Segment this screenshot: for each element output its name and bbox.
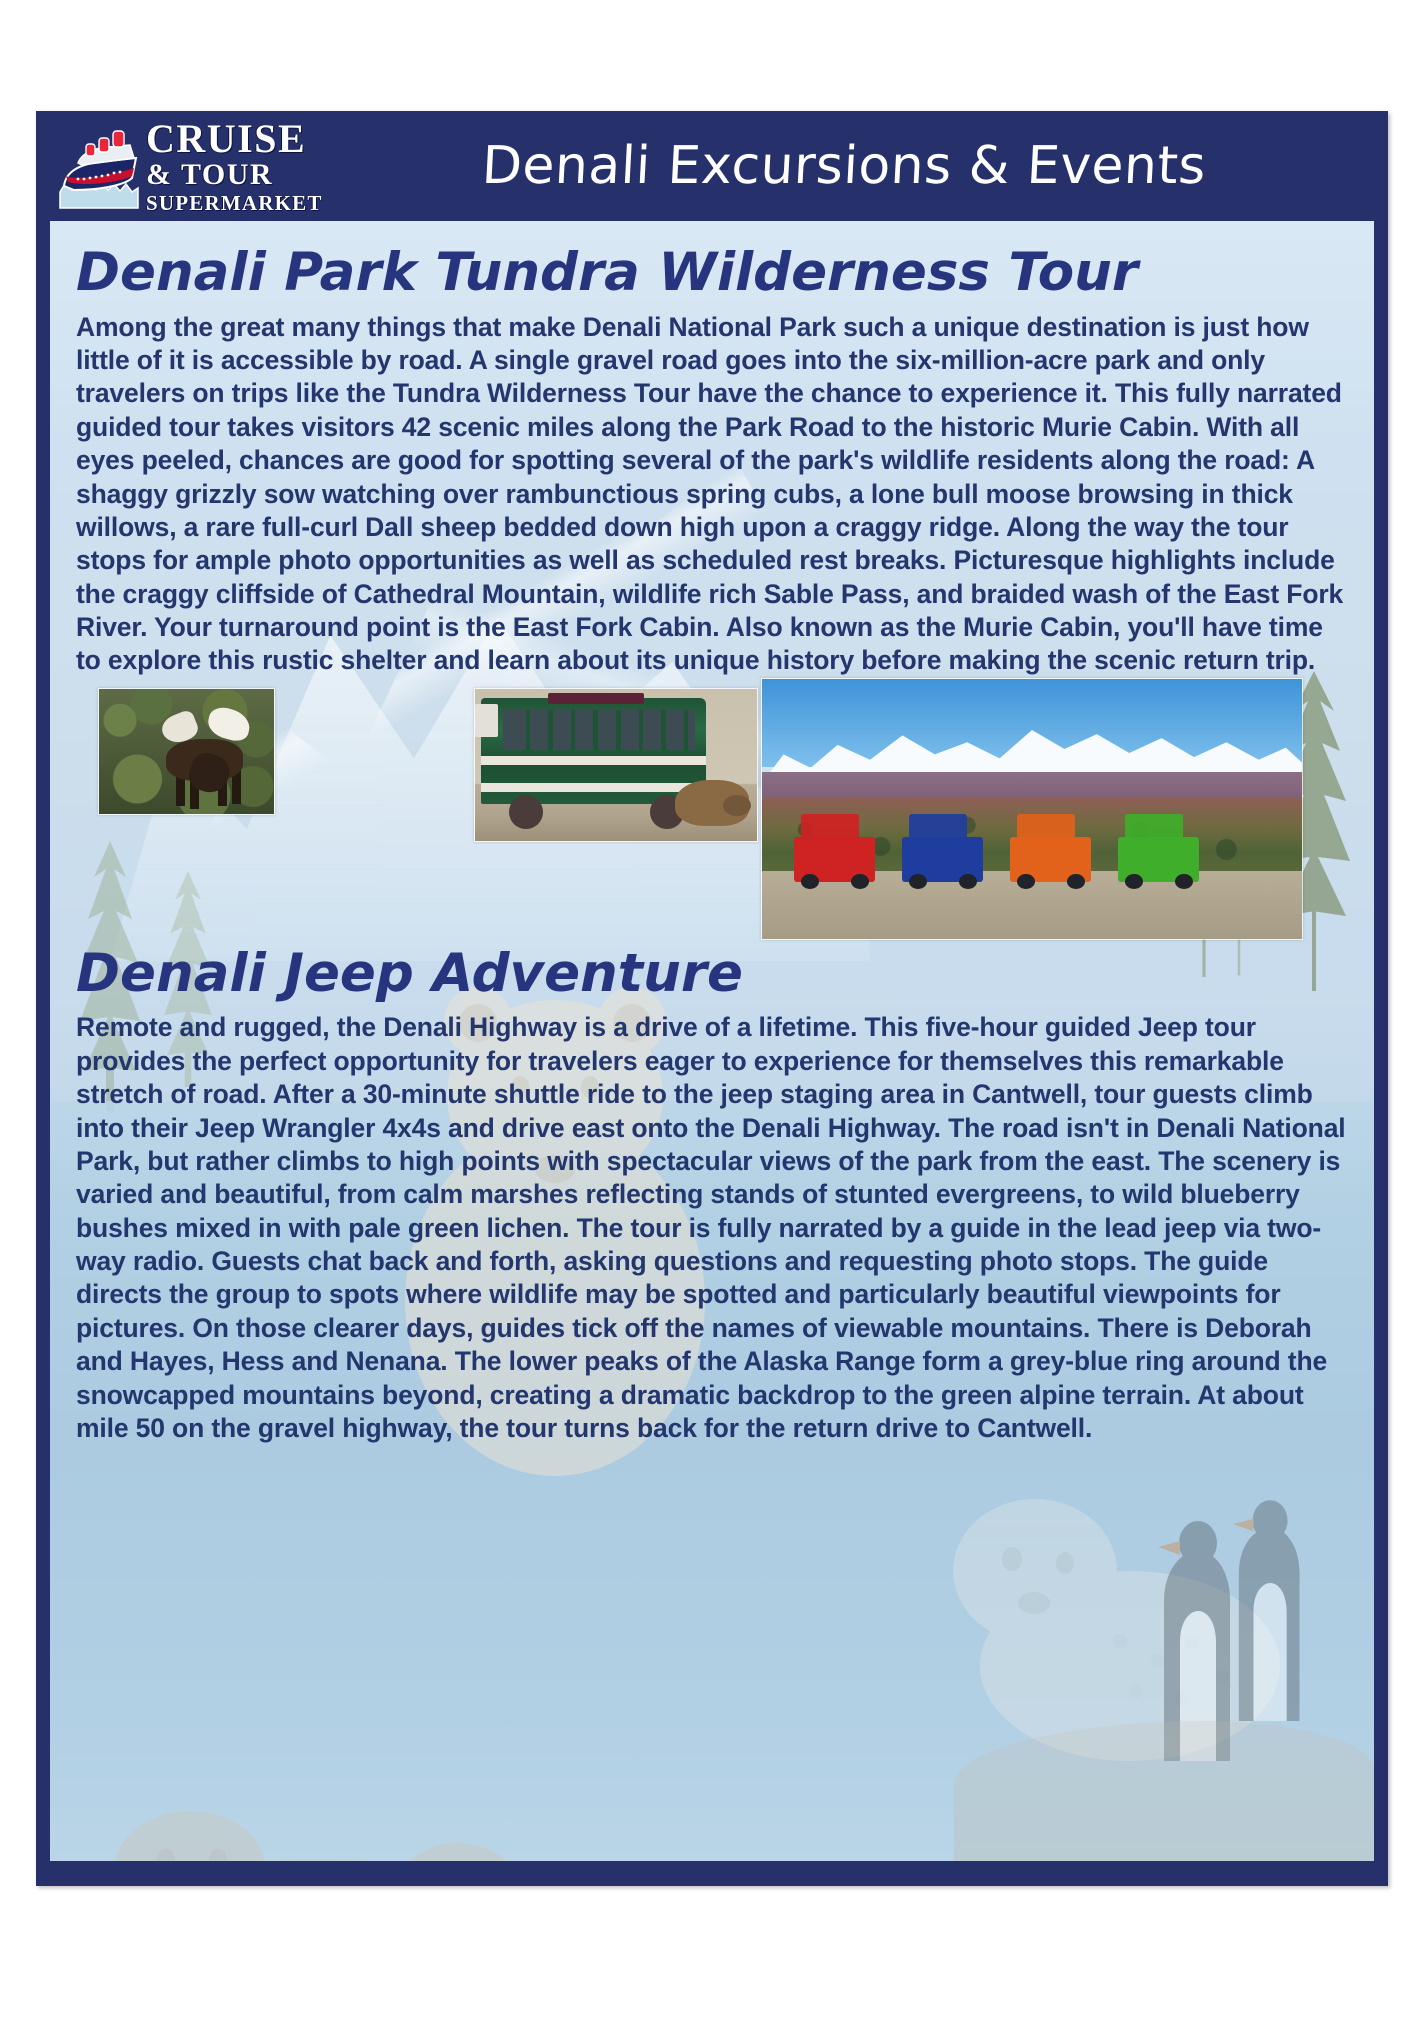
- flyer-bottom-border: [36, 1861, 1388, 1886]
- brand-wordmark: CRUISE & TOUR SUPERMARKET: [146, 119, 323, 214]
- tour-bus-photo: [474, 688, 758, 842]
- brand-line-tour: & TOUR: [146, 160, 323, 190]
- section-body-jeep-adventure: Remote and rugged, the Denali Highway is…: [76, 1001, 1348, 1445]
- page-title: Denali Excursions & Events: [322, 136, 1389, 196]
- flyer-page: CRUISE & TOUR SUPERMARKET Denali Excursi…: [36, 111, 1388, 1886]
- brand-line-supermarket: SUPERMARKET: [146, 193, 323, 214]
- jeeps-photo: [761, 678, 1303, 940]
- background-puffin-watermark: [1124, 1461, 1354, 1791]
- brand-line-cruise: CRUISE: [146, 119, 323, 159]
- brand-logo: CRUISE & TOUR SUPERMARKET: [56, 114, 324, 218]
- content-panel: Denali Park Tundra Wilderness Tour Among…: [50, 221, 1374, 1861]
- article-body: Denali Park Tundra Wilderness Tour Among…: [50, 221, 1374, 1445]
- background-seal-watermark: [930, 1451, 1290, 1771]
- section-title-jeep-adventure: Denali Jeep Adventure: [76, 938, 1348, 1002]
- background-gravel-bar: [954, 1721, 1374, 1861]
- moose-photo: [98, 688, 275, 815]
- flyer-header: CRUISE & TOUR SUPERMARKET Denali Excursi…: [36, 111, 1388, 221]
- background-sea-otter-watermark: [70, 1781, 590, 1861]
- section-title-tundra-tour: Denali Park Tundra Wilderness Tour: [76, 221, 1348, 301]
- section-body-tundra-tour: Among the great many things that make De…: [76, 301, 1348, 678]
- photo-strip: [76, 688, 1348, 938]
- cruise-ship-icon: [56, 118, 142, 214]
